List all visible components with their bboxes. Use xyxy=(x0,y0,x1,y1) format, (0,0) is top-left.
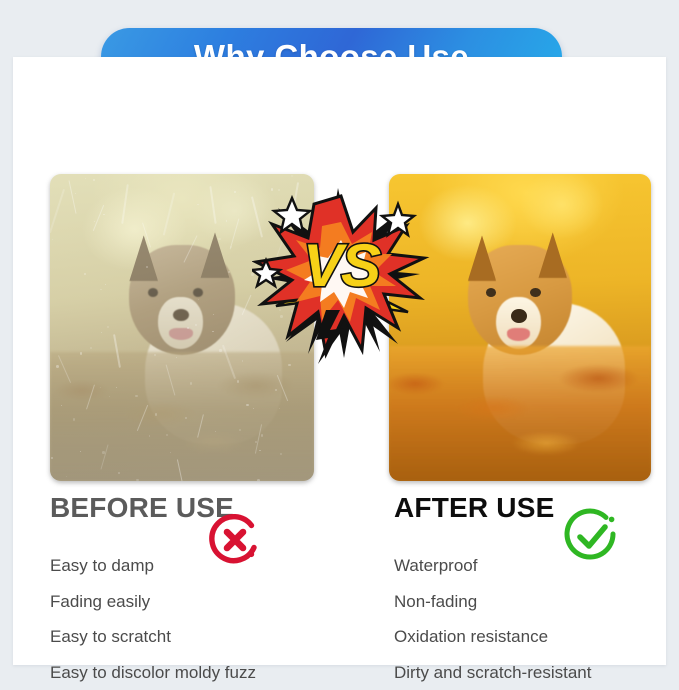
list-item: Non-fading xyxy=(394,584,674,620)
after-dog-eye-left xyxy=(486,288,496,297)
list-item: Easy to scratcht xyxy=(50,619,350,655)
list-item: Easy to damp xyxy=(50,548,350,584)
list-item: Dirty and scratch-resistant xyxy=(394,655,674,690)
after-leaf-ground xyxy=(389,346,651,481)
list-item: Fading easily xyxy=(50,584,350,620)
after-dog-muzzle xyxy=(496,297,541,349)
after-dog-eye-right xyxy=(530,288,540,297)
versus-label: VS xyxy=(303,232,381,299)
list-item: Oxidation resistance xyxy=(394,619,674,655)
before-column: BEFORE USE Easy to damp Fading easily Ea… xyxy=(50,494,350,690)
after-column: AFTER USE Waterproof Non-fading Oxidatio… xyxy=(394,494,674,690)
list-item: Easy to discolor moldy fuzz xyxy=(50,655,350,690)
list-item: Waterproof xyxy=(394,548,674,584)
versus-burst-graphic: VS xyxy=(252,182,430,364)
after-dog-nose xyxy=(511,309,527,323)
check-circle-icon xyxy=(558,503,626,571)
before-feature-list: Easy to damp Fading easily Easy to scrat… xyxy=(50,548,350,690)
before-heading: BEFORE USE xyxy=(50,494,350,522)
after-heading: AFTER USE xyxy=(394,494,674,522)
after-feature-list: Waterproof Non-fading Oxidation resistan… xyxy=(394,548,674,690)
cross-circle-icon xyxy=(203,508,267,572)
